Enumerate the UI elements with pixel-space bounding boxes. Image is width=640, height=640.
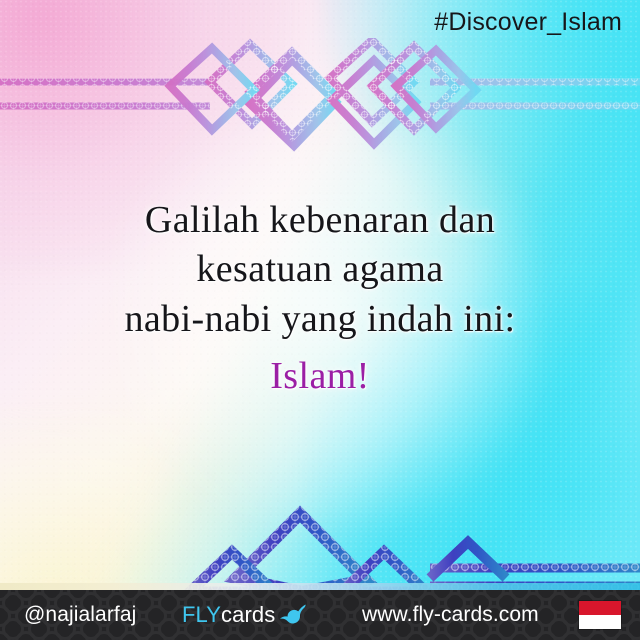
quote-card: #Discover_Islam Galilah kebenaran dan ke… (0, 0, 640, 640)
website-url[interactable]: www.fly-cards.com (362, 603, 539, 627)
author-handle[interactable]: @najialarfaj (24, 603, 136, 627)
quote-line-3: nabi-nabi yang indah ini: (0, 295, 640, 344)
flag-stripe-white (579, 615, 621, 629)
quote-block: Galilah kebenaran dan kesatuan agama nab… (0, 196, 640, 402)
ornament-top-knot-icon (0, 38, 640, 158)
brand-prefix: FLY (182, 602, 221, 628)
quote-line-2: kesatuan agama (0, 245, 640, 294)
dove-icon (278, 603, 308, 627)
brand-suffix: cards (221, 602, 275, 628)
quote-highlight: Islam! (0, 352, 640, 401)
footer-content: @najialarfaj FLY cards www.fly-cards.com (0, 590, 640, 640)
flag-stripe-red (579, 601, 621, 615)
footer-bar: @najialarfaj FLY cards www.fly-cards.com (0, 590, 640, 640)
quote-line-1: Galilah kebenaran dan (0, 196, 640, 245)
bottom-accent-strip (0, 583, 640, 590)
indonesia-flag-icon (578, 600, 622, 630)
brand-logo[interactable]: FLY cards (182, 602, 308, 628)
ornament-bottom-knot-icon (0, 482, 640, 592)
hashtag-label: #Discover_Islam (434, 8, 622, 37)
